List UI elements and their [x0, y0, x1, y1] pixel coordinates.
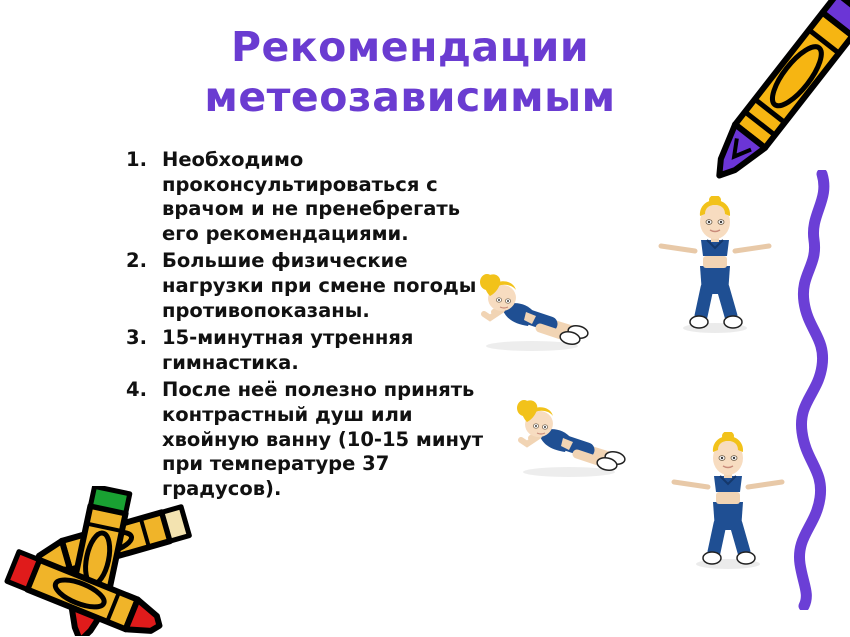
list-item-text: Необходимо проконсультироваться с врачом…	[162, 148, 486, 246]
slide-canvas: Рекомендации метеозависимым 1. Необходим…	[0, 0, 850, 637]
situp-girl-figure	[505, 398, 633, 480]
page-title: Рекомендации метеозависимым	[130, 22, 690, 122]
standing-arms-out-girl-figure	[668, 432, 788, 572]
list-item: 3. 15-минутная утренняя гимнастика.	[126, 326, 486, 375]
list-item-number: 4.	[126, 378, 152, 403]
crayon-top-right-icon	[700, 0, 850, 209]
list-item-number: 3.	[126, 326, 152, 351]
page-title-line-1: Рекомендации	[130, 22, 690, 72]
list-item-number: 1.	[126, 148, 152, 173]
list-item: 4. После неё полезно принять контрастный…	[126, 378, 486, 501]
situp-girl-figure	[468, 272, 596, 354]
list-item-text: Большие физические нагрузки при смене по…	[162, 249, 486, 323]
list-item: 2. Большие физические нагрузки при смене…	[126, 249, 486, 323]
list-item-text: После неё полезно принять контрастный ду…	[162, 378, 486, 501]
page-title-line-2: метеозависимым	[130, 72, 690, 122]
list-item-number: 2.	[126, 249, 152, 274]
list-item: 1. Необходимо проконсультироваться с вра…	[126, 148, 486, 246]
list-item-text: 15-минутная утренняя гимнастика.	[162, 326, 486, 375]
standing-arms-out-girl-figure	[655, 196, 775, 336]
recommendations-list: 1. Необходимо проконсультироваться с вра…	[126, 148, 486, 504]
crayons-bottom-left-icon	[0, 486, 211, 636]
